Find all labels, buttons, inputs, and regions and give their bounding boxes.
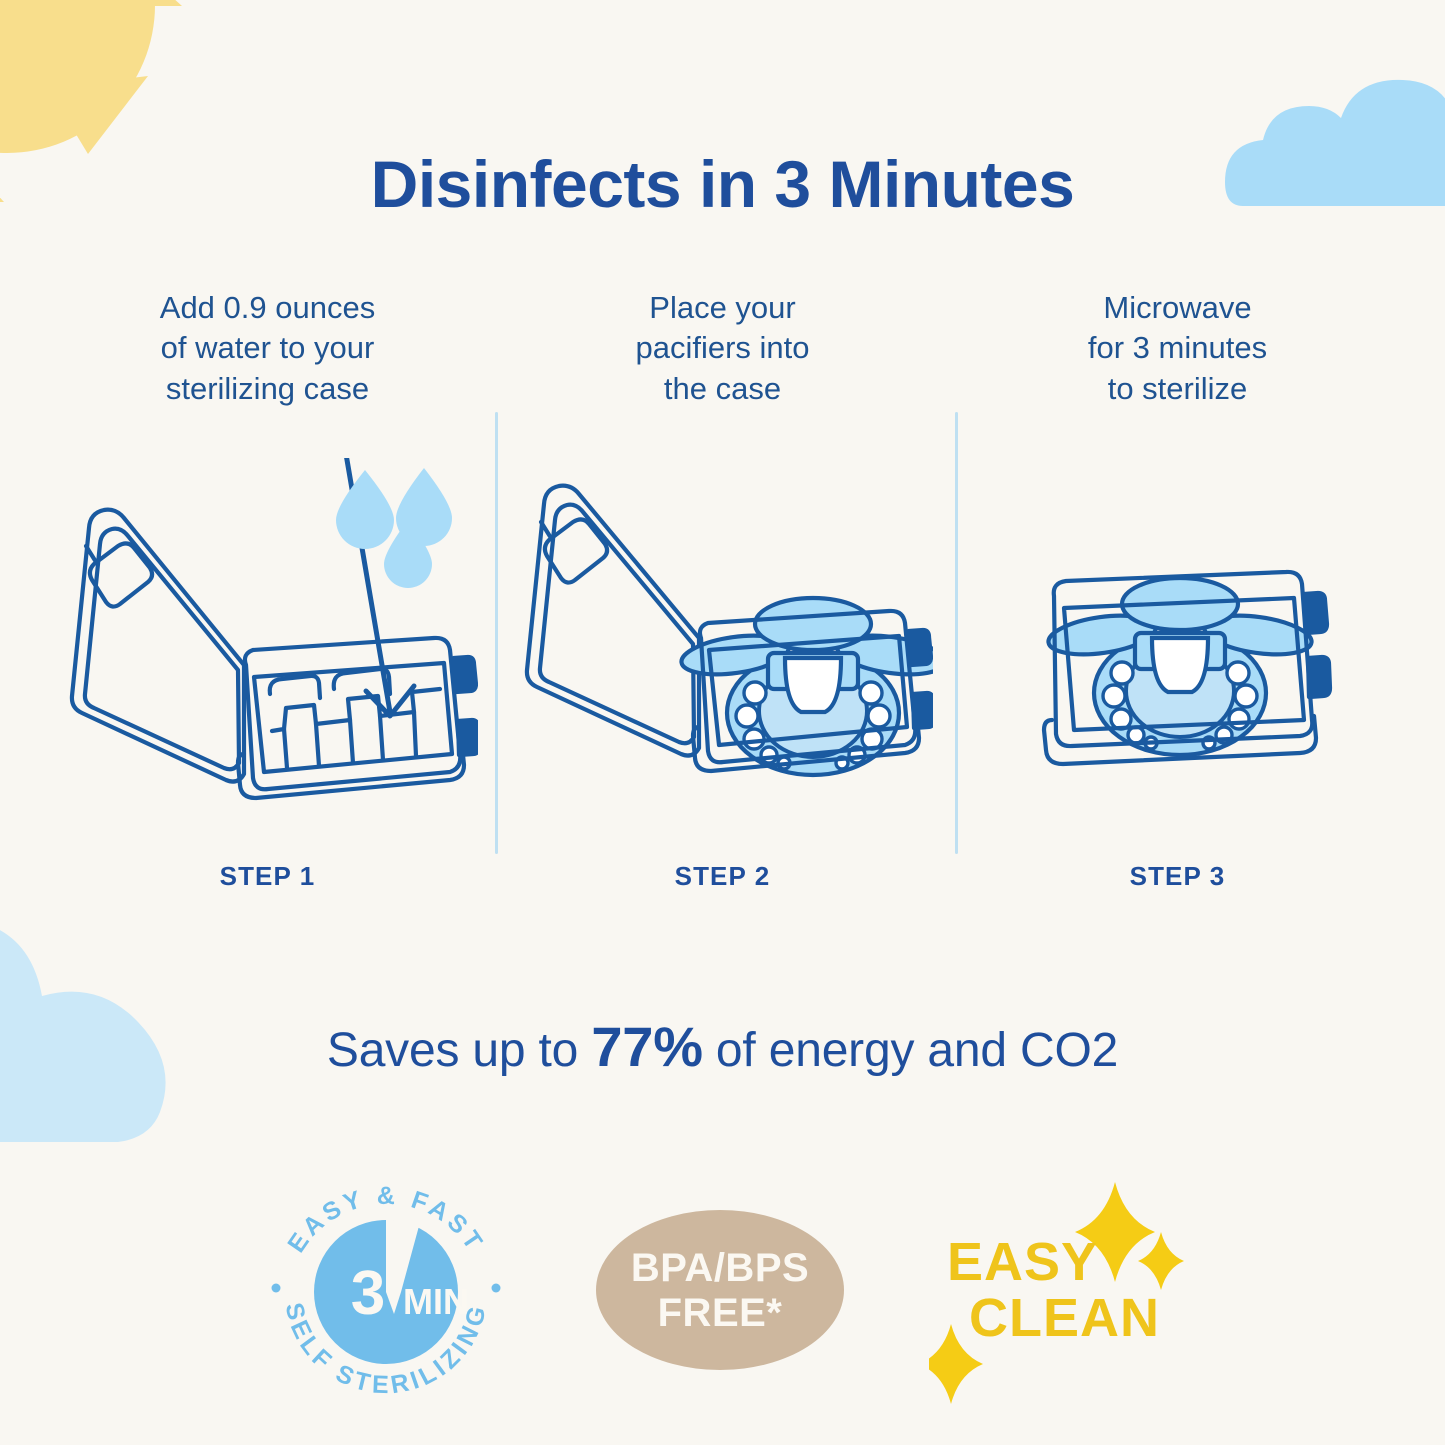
step-caption-line: to sterilize xyxy=(1013,369,1343,409)
sun-icon xyxy=(0,0,272,270)
step-caption-line: for 3 minutes xyxy=(1013,328,1343,368)
savings-suffix: of energy and CO2 xyxy=(703,1024,1118,1077)
step-caption-3: Microwave for 3 minutes to sterilize xyxy=(1013,288,1343,409)
pacifier-icon xyxy=(679,598,933,775)
step-illustration-1 xyxy=(58,458,478,818)
step-illustration-2 xyxy=(513,458,933,818)
step-column-1: Add 0.9 ounces of water to your steriliz… xyxy=(40,288,495,908)
ring-dot xyxy=(492,1284,501,1293)
step-illustration-3 xyxy=(968,458,1388,818)
ring-dot xyxy=(272,1284,281,1293)
step-column-3: Microwave for 3 minutes to sterilize xyxy=(950,288,1405,908)
badges-row: EASY & FAST SELF STERILIZING 3 MIN xyxy=(0,1168,1445,1413)
step-caption-line: Place your xyxy=(558,288,888,328)
step-label-2: STEP 2 xyxy=(675,861,771,892)
infographic-page: Disinfects in 3 Minutes Add 0.9 ounces o… xyxy=(0,0,1445,1445)
badge-center-unit: MIN xyxy=(403,1281,469,1322)
badge-self-sterilizing: EASY & FAST SELF STERILIZING 3 MIN xyxy=(261,1168,511,1413)
savings-prefix: Saves up to xyxy=(327,1024,591,1077)
step-caption-line: the case xyxy=(558,369,888,409)
step-caption-line: pacifiers into xyxy=(558,328,888,368)
step-caption-1: Add 0.9 ounces of water to your steriliz… xyxy=(103,288,433,409)
page-title: Disinfects in 3 Minutes xyxy=(0,148,1445,221)
step-caption-line: Add 0.9 ounces xyxy=(103,288,433,328)
badge-bpa-free: BPA/BPS FREE* xyxy=(595,1208,845,1373)
step-caption-line: of water to your xyxy=(103,328,433,368)
step-column-2: Place your pacifiers into the case xyxy=(495,288,950,908)
water-drop-icon xyxy=(336,468,452,588)
steps-row: Add 0.9 ounces of water to your steriliz… xyxy=(40,288,1405,908)
badge-easy-clean: EASY CLEAN xyxy=(929,1176,1184,1406)
sparkle-icon xyxy=(929,1182,1184,1404)
savings-statement: Saves up to 77% of energy and CO2 xyxy=(0,1014,1445,1079)
step-caption-line: sterilizing case xyxy=(103,369,433,409)
step-caption-2: Place your pacifiers into the case xyxy=(558,288,888,409)
badge-center-number: 3 xyxy=(351,1259,385,1328)
savings-percent: 77% xyxy=(591,1015,702,1078)
step-label-3: STEP 3 xyxy=(1130,861,1226,892)
step-caption-line: Microwave xyxy=(1013,288,1343,328)
ellipse-badge xyxy=(595,1208,845,1373)
step-label-1: STEP 1 xyxy=(220,861,316,892)
